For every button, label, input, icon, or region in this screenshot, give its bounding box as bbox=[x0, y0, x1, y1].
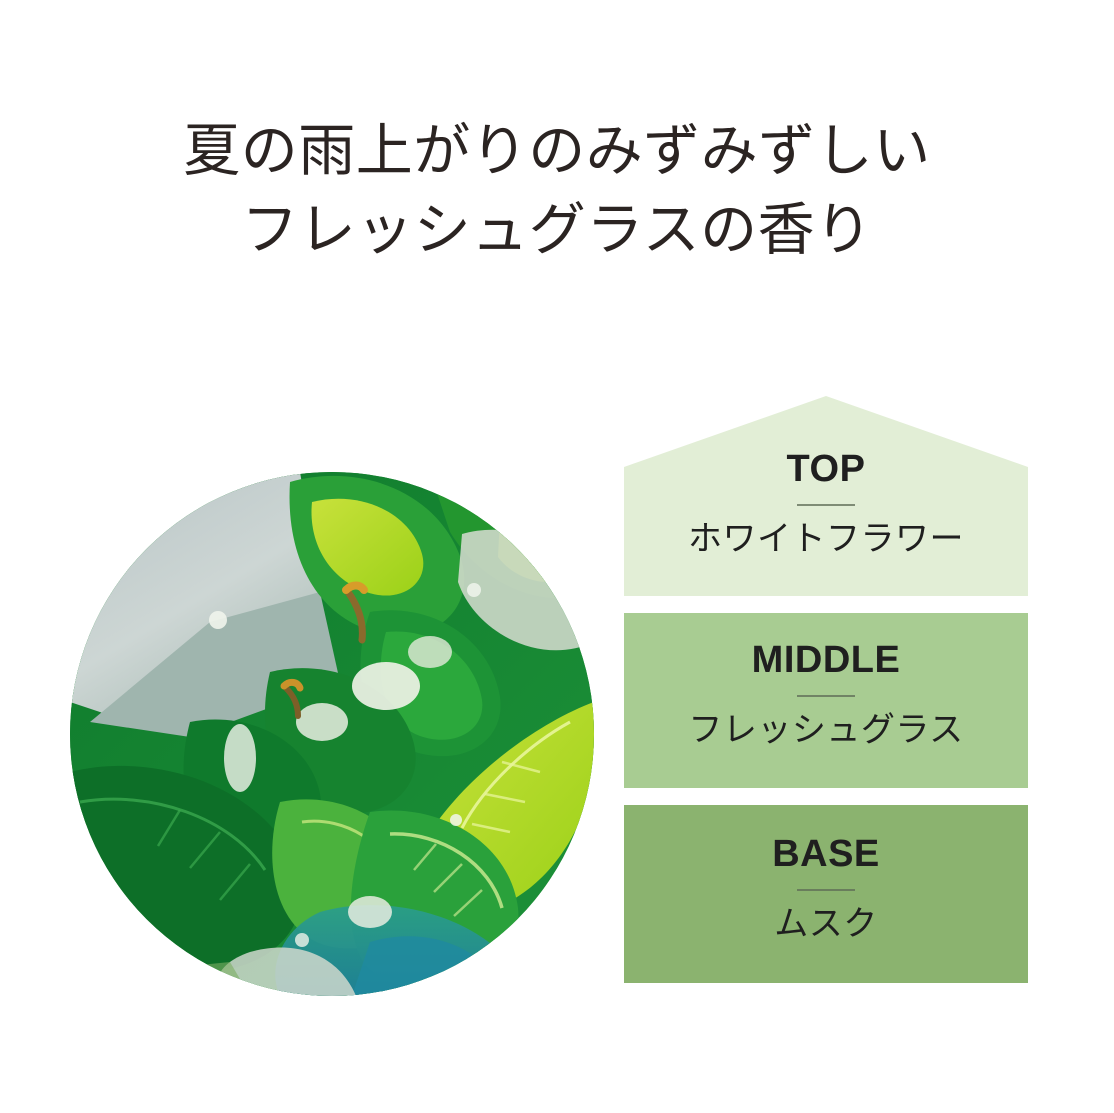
fragrance-level-middle-note: フレッシュグラス bbox=[688, 707, 963, 753]
divider-line bbox=[797, 504, 855, 506]
fragrance-level-top-note: ホワイトフラワー bbox=[688, 516, 964, 562]
divider-line bbox=[797, 889, 855, 891]
page-title-line-2: フレッシュグラスの香り bbox=[0, 191, 1114, 270]
page-title-line-1: 夏の雨上がりのみずみずしい bbox=[0, 112, 1114, 191]
fragrance-level-base-note: ムスク bbox=[774, 901, 878, 947]
divider-line bbox=[797, 695, 855, 697]
fragrance-level-middle: MIDDLE フレッシュグラス bbox=[624, 613, 1028, 788]
fragrance-level-base-label: BASE bbox=[772, 833, 880, 875]
leaves-illustration-icon bbox=[70, 472, 594, 996]
fragrance-level-top-label: TOP bbox=[787, 448, 866, 490]
fresh-green-leaves-photo bbox=[70, 472, 594, 996]
fragrance-level-base: BASE ムスク bbox=[624, 805, 1028, 983]
page-title: 夏の雨上がりのみずみずしい フレッシュグラスの香り bbox=[0, 112, 1114, 270]
fragrance-pyramid: TOP ホワイトフラワー MIDDLE フレッシュグラス BASE ムスク bbox=[624, 396, 1028, 986]
fragrance-level-middle-label: MIDDLE bbox=[752, 639, 901, 681]
fragrance-level-top: TOP ホワイトフラワー bbox=[624, 396, 1028, 596]
